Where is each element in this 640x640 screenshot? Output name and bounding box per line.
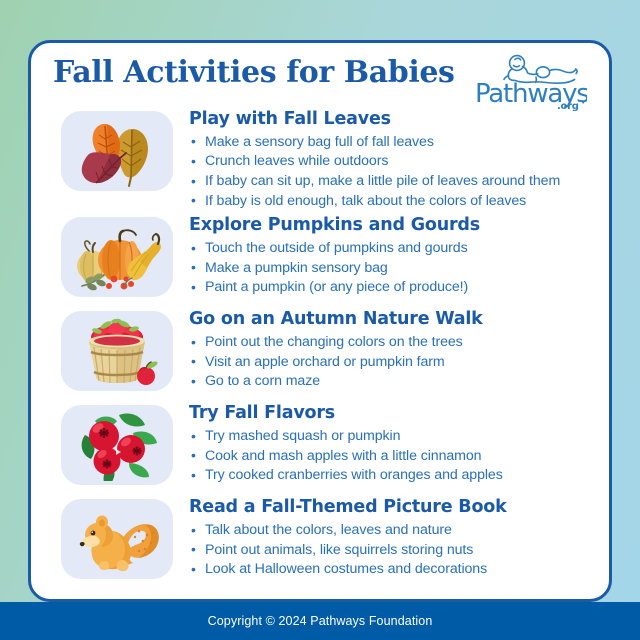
activity-title: Explore Pumpkins and Gourds — [189, 215, 595, 237]
infographic-card: Fall Activities for Babies — [28, 40, 612, 602]
list-item: Make a pumpkin sensory bag — [189, 259, 595, 279]
pathways-wordmark: Pathways .org — [475, 79, 587, 111]
activities-list: Play with Fall Leaves Make a sensory bag… — [31, 105, 609, 587]
list-item: Look at Halloween costumes and decoratio… — [189, 560, 595, 580]
activity-title: Try Fall Flavors — [189, 403, 595, 425]
card-header: Fall Activities for Babies — [31, 43, 609, 105]
list-item: If baby is old enough, talk about the co… — [189, 192, 595, 212]
activity-title: Read a Fall-Themed Picture Book — [189, 497, 595, 519]
pathways-logo[interactable]: Pathways .org Pathways .org — [475, 53, 587, 111]
activity-row: Play with Fall Leaves Make a sensory bag… — [47, 107, 595, 211]
list-item: Touch the outside of pumpkins and gourds — [189, 239, 595, 259]
apple-basket-icon — [61, 311, 173, 391]
activity-text: Try Fall Flavors Try mashed squash or pu… — [189, 401, 595, 486]
list-item: Cook and mash apples with a little cinna… — [189, 447, 595, 467]
footer-bar: Copyright © 2024 Pathways Foundation — [0, 602, 640, 640]
list-item: Make a sensory bag full of fall leaves — [189, 133, 595, 153]
list-item: Crunch leaves while outdoors — [189, 152, 595, 172]
activity-row: Go on an Autumn Nature Walk Point out th… — [47, 307, 595, 399]
activity-text: Go on an Autumn Nature Walk Point out th… — [189, 307, 595, 392]
svg-text:.org: .org — [557, 101, 579, 111]
activity-bullets: Talk about the colors, leaves and nature… — [189, 521, 595, 580]
activity-bullets: Try mashed squash or pumpkin Cook and ma… — [189, 427, 595, 486]
cranberries-icon — [61, 405, 173, 485]
fall-leaves-icon — [61, 111, 173, 191]
list-item: Go to a corn maze — [189, 372, 595, 392]
page-title: Fall Activities for Babies — [53, 57, 455, 89]
list-item: Point out animals, like squirrels storin… — [189, 541, 595, 561]
list-item: Visit an apple orchard or pumpkin farm — [189, 353, 595, 373]
list-item: Try cooked cranberries with oranges and … — [189, 466, 595, 486]
pumpkins-gourds-icon — [61, 217, 173, 297]
activity-bullets: Make a sensory bag full of fall leaves C… — [189, 133, 595, 211]
activity-title: Go on an Autumn Nature Walk — [189, 309, 595, 331]
activity-text: Read a Fall-Themed Picture Book Talk abo… — [189, 495, 595, 580]
activity-title: Play with Fall Leaves — [189, 109, 595, 131]
activity-row: Explore Pumpkins and Gourds Touch the ou… — [47, 213, 595, 305]
list-item: Try mashed squash or pumpkin — [189, 427, 595, 447]
squirrel-icon — [61, 499, 173, 579]
list-item: If baby can sit up, make a little pile o… — [189, 172, 595, 192]
activity-bullets: Point out the changing colors on the tre… — [189, 333, 595, 392]
activity-row: Try Fall Flavors Try mashed squash or pu… — [47, 401, 595, 493]
activity-row: Read a Fall-Themed Picture Book Talk abo… — [47, 495, 595, 587]
list-item: Talk about the colors, leaves and nature — [189, 521, 595, 541]
copyright-text: Copyright © 2024 Pathways Foundation — [208, 614, 433, 628]
list-item: Point out the changing colors on the tre… — [189, 333, 595, 353]
activity-text: Explore Pumpkins and Gourds Touch the ou… — [189, 213, 595, 298]
activity-bullets: Touch the outside of pumpkins and gourds… — [189, 239, 595, 298]
list-item: Paint a pumpkin (or any piece of produce… — [189, 278, 595, 298]
activity-text: Play with Fall Leaves Make a sensory bag… — [189, 107, 595, 211]
